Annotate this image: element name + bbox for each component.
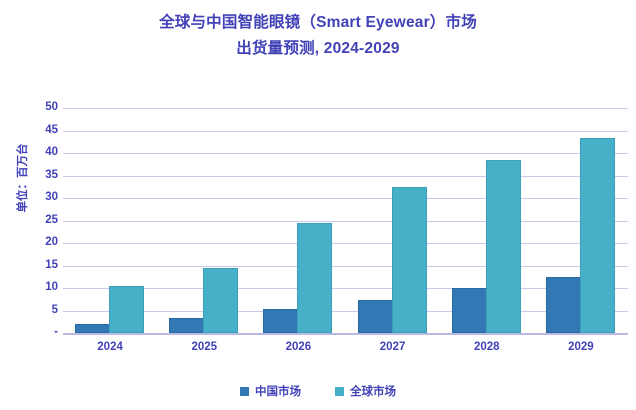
legend-swatch-icon <box>240 387 249 396</box>
bar-china-2025[interactable] <box>169 318 204 334</box>
bar-group <box>63 108 157 333</box>
x-axis-tick-label-2027: 2027 <box>346 341 440 353</box>
bar-group <box>346 108 440 333</box>
x-axis-tick-label-2025: 2025 <box>157 341 251 353</box>
bar-global-2027[interactable] <box>392 187 427 333</box>
legend-label: 全球市场 <box>350 383 396 399</box>
chart-title-line-2: 出货量预测, 2024-2029 <box>0 36 636 62</box>
legend-swatch-icon <box>335 387 344 396</box>
legend-item-china[interactable]: 中国市场 <box>240 383 301 399</box>
bar-china-2026[interactable] <box>263 309 298 334</box>
bar-china-2028[interactable] <box>452 288 487 333</box>
legend-label: 中国市场 <box>255 383 301 399</box>
bar-group <box>157 108 251 333</box>
gridline <box>63 333 628 335</box>
bar-global-2026[interactable] <box>297 223 332 333</box>
chart-title: 全球与中国智能眼镜（Smart Eyewear）市场 出货量预测, 2024-2… <box>0 10 636 62</box>
y-axis-tick-label: 10 <box>18 281 58 293</box>
y-axis-tick-label: - <box>18 326 58 338</box>
x-axis-tick-label-2029: 2029 <box>534 341 628 353</box>
bars-layer <box>63 108 628 333</box>
bar-group <box>534 108 628 333</box>
y-axis-tick-label: 50 <box>18 101 58 113</box>
bar-global-2024[interactable] <box>109 286 144 333</box>
chart-legend: 中国市场全球市场 <box>0 383 636 399</box>
chart-container: 全球与中国智能眼镜（Smart Eyewear）市场 出货量预测, 2024-2… <box>0 0 636 410</box>
bar-china-2027[interactable] <box>358 300 393 334</box>
bar-global-2025[interactable] <box>203 268 238 333</box>
bar-group <box>251 108 345 333</box>
chart-title-line-1: 全球与中国智能眼镜（Smart Eyewear）市场 <box>159 14 477 31</box>
bar-group <box>440 108 534 333</box>
bar-global-2028[interactable] <box>486 160 521 333</box>
bar-china-2029[interactable] <box>546 277 581 333</box>
x-axis-tick-labels: 202420252026202720282029 <box>63 341 628 361</box>
x-axis-tick-label-2026: 2026 <box>251 341 345 353</box>
y-axis-tick-label: 5 <box>18 304 58 316</box>
bar-global-2029[interactable] <box>580 138 615 334</box>
x-axis-tick-label-2024: 2024 <box>63 341 157 353</box>
bar-china-2024[interactable] <box>75 324 110 333</box>
y-axis-tick-label: 15 <box>18 259 58 271</box>
legend-item-global[interactable]: 全球市场 <box>335 383 396 399</box>
x-axis-tick-label-2028: 2028 <box>440 341 534 353</box>
y-axis-title: 单位：百万台 <box>14 118 30 238</box>
